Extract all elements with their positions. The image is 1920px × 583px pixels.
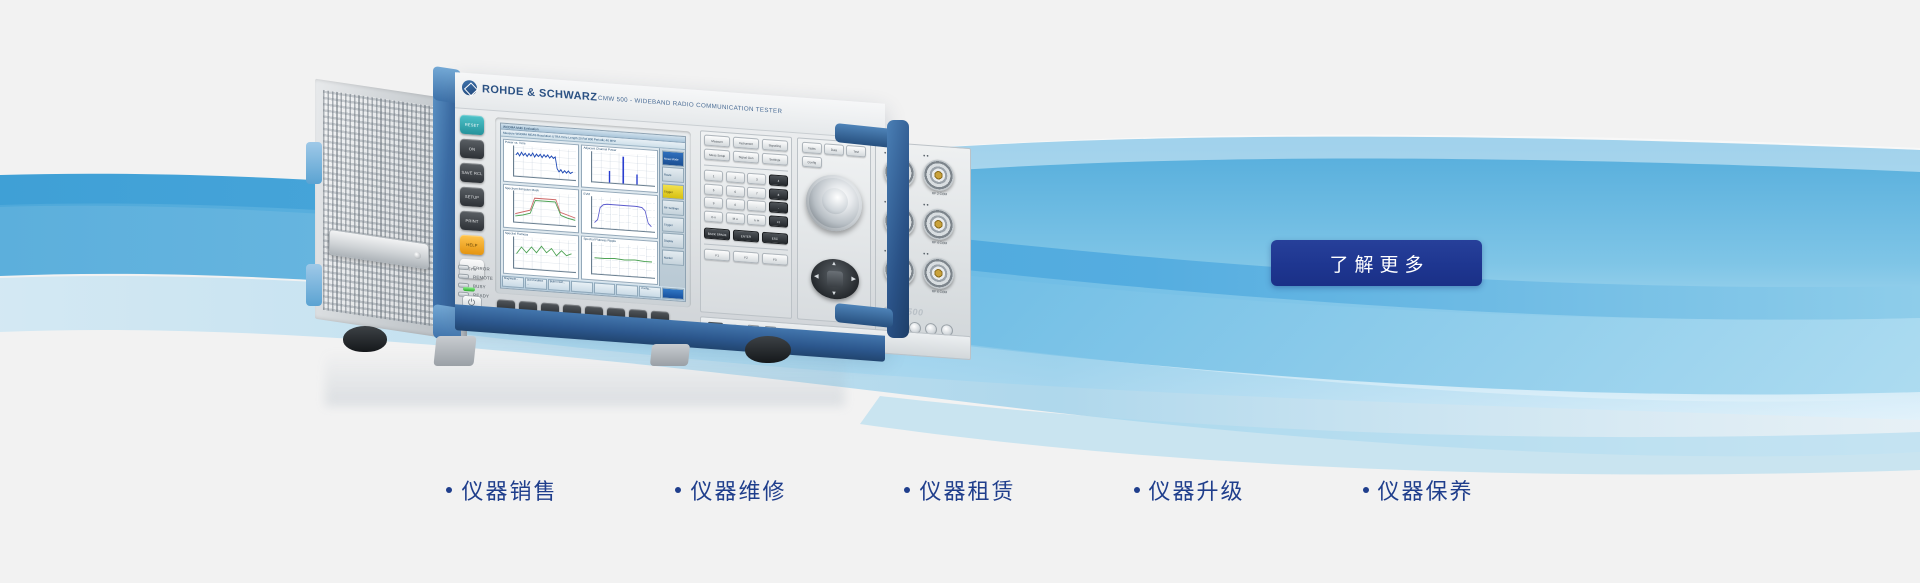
numeric-key[interactable]: 4 <box>769 174 788 186</box>
print-key[interactable]: PRINT <box>460 211 484 232</box>
service-label: 仪器租赁 <box>919 474 1015 506</box>
enter-key[interactable]: ENTER <box>733 229 759 242</box>
function-key[interactable]: Settings <box>762 152 788 165</box>
rf-connector[interactable]: ●● RF 6 COM <box>923 251 956 295</box>
service-label: 仪器维修 <box>690 474 786 506</box>
led-indicator-icon <box>458 264 469 270</box>
lcd-screen[interactable]: WCDMA Multi Evaluation Measure WCDMA MEA… <box>500 123 686 303</box>
keypad-function-rows: Measure Instrument Signaling Meas Setup … <box>701 131 791 168</box>
plot-panel: Power vs. Time <box>503 138 580 187</box>
plot-panel: EVM <box>581 190 658 239</box>
service-item-repair[interactable]: 仪器维修 <box>675 474 786 506</box>
led-label: REMOTE <box>473 275 493 281</box>
service-item-rental[interactable]: 仪器租赁 <box>904 474 1015 506</box>
plot-area-spectral-flatness <box>513 236 577 272</box>
bullet-icon <box>1134 487 1140 493</box>
numeric-key[interactable]: 1 <box>704 169 723 181</box>
reset-key[interactable]: RESET <box>460 115 484 136</box>
function-key[interactable]: Instrument <box>733 137 759 150</box>
numeric-key[interactable]: 8 <box>769 188 788 200</box>
screen-side-button[interactable]: Meas Mode <box>662 150 684 167</box>
f-key[interactable]: F3 <box>762 253 788 266</box>
unit-key[interactable]: M u <box>726 212 745 224</box>
plot-area-adjacent-channel-power <box>591 151 655 187</box>
rubber-foot-right <box>745 336 791 363</box>
screen-tab[interactable]: Config... <box>639 286 661 299</box>
hero-banner: ROHDE & SCHWARZ CMW 500 - WIDEBAND RADIO… <box>0 0 1920 583</box>
function-key[interactable]: Signaling <box>762 139 788 152</box>
screen-side-button[interactable]: Trigger <box>662 216 684 233</box>
function-key[interactable]: Meas Setup <box>704 148 730 161</box>
rf-jack-icon[interactable] <box>923 208 954 241</box>
handle-arm-top <box>835 123 893 148</box>
nav-key[interactable]: Config <box>802 155 822 167</box>
screen-tab[interactable] <box>594 282 616 295</box>
cmw500-instrument: ROHDE & SCHWARZ CMW 500 - WIDEBAND RADIO… <box>315 68 915 368</box>
bullet-icon <box>446 487 452 493</box>
screen-side-button[interactable]: RF Settings <box>662 199 684 216</box>
stand-foot-right <box>650 344 690 366</box>
function-key[interactable]: Signal Gen <box>733 150 759 163</box>
plot-area-spectral-flatness-ripple <box>591 242 655 278</box>
left-key-column: RESET ON SAVE RCL SETUP PRINT HELP SYS <box>460 115 488 285</box>
service-label: 仪器销售 <box>461 474 557 506</box>
screen-tab[interactable]: Magnitude... <box>502 276 524 289</box>
backspace-key[interactable]: BACK SPACE <box>704 227 730 240</box>
chassis-corner-cap-bottom <box>306 264 322 306</box>
model-name: CMW 500 - WIDEBAND RADIO COMMUNICATION T… <box>598 95 782 116</box>
unit-key[interactable]: k m <box>747 213 766 225</box>
numeric-key[interactable]: 9 <box>704 196 723 208</box>
service-label: 仪器保养 <box>1378 474 1474 506</box>
rf-jack-icon[interactable] <box>923 159 954 192</box>
setup-key[interactable]: SETUP <box>460 187 484 208</box>
numeric-key[interactable]: 0 <box>726 198 745 210</box>
keypad-block: Measure Instrument Signaling Meas Setup … <box>700 130 792 319</box>
plot-area-evm <box>591 196 655 232</box>
f-key[interactable]: F2 <box>733 251 759 264</box>
rf-jack-icon[interactable] <box>923 257 954 290</box>
plot-panel: Adjacent Channel Power <box>581 144 658 193</box>
bullet-icon <box>675 487 681 493</box>
service-item-upgrade[interactable]: 仪器升级 <box>1134 474 1245 506</box>
bullet-icon <box>1363 487 1369 493</box>
bullet-icon <box>904 487 910 493</box>
rf-connector-label: RF 6 COM <box>923 288 956 295</box>
display-bezel: WCDMA Multi Evaluation Measure WCDMA MEA… <box>495 117 691 307</box>
numeric-key[interactable]: 7 <box>747 186 766 198</box>
arrow-left-icon[interactable]: ◀ <box>814 274 819 280</box>
unit-key[interactable]: G n <box>704 210 723 222</box>
numeric-key[interactable]: 3 <box>747 173 766 185</box>
led-indicator-icon <box>458 273 469 279</box>
on-key[interactable]: ON <box>460 139 484 160</box>
service-label: 仪器升级 <box>1149 474 1245 506</box>
handle-arm-bottom <box>835 303 893 328</box>
rf-connector[interactable]: ●● RF 4 COM <box>923 202 956 246</box>
screen-tab[interactable]: Stat Condition ... <box>525 277 547 290</box>
brand-name: ROHDE & SCHWARZ <box>482 83 597 103</box>
screen-side-button[interactable]: Route <box>662 166 684 183</box>
plot-panel: Spectral Flatness Ripple <box>581 235 658 284</box>
numeric-key[interactable]: . <box>747 200 766 212</box>
plot-area-spectrum-emission-mask <box>513 191 577 227</box>
numeric-key[interactable]: - <box>769 201 788 213</box>
numeric-key[interactable]: 2 <box>726 171 745 183</box>
screen-side-button[interactable]: Trigger <box>662 183 684 200</box>
screen-tab[interactable]: Built-in Self... <box>548 279 570 292</box>
escape-key[interactable]: ESC <box>762 231 788 244</box>
learn-more-button[interactable]: 了解更多 <box>1271 240 1482 286</box>
numeric-key[interactable]: 5 <box>704 183 723 195</box>
rubber-foot-left <box>343 326 387 352</box>
rf-connector[interactable]: ●● RF 2 COM <box>923 153 956 197</box>
chassis-corner-cap-top <box>306 142 322 184</box>
screen-side-button[interactable]: Marker <box>662 249 684 266</box>
save-recall-key[interactable]: SAVE RCL <box>460 163 484 184</box>
screen-tab[interactable] <box>616 284 638 297</box>
stand-foot-left <box>433 336 476 366</box>
service-item-maintenance[interactable]: 仪器保养 <box>1363 474 1474 506</box>
led-label: ERROR <box>473 266 490 272</box>
service-list: 仪器销售 仪器维修 仪器租赁 仪器升级 仪器保养 <box>0 474 1920 506</box>
service-item-sales[interactable]: 仪器销售 <box>446 474 557 506</box>
f-key[interactable]: F1 <box>704 248 730 261</box>
screen-side-button[interactable]: Display <box>662 232 684 249</box>
numeric-keypad: 1 2 3 4 5 6 7 8 9 0 . - G n M u k m x1 <box>701 166 791 230</box>
unit-key[interactable]: x1 <box>769 215 788 227</box>
carry-handle[interactable] <box>835 120 911 338</box>
power-led-icon <box>463 287 475 292</box>
numeric-key[interactable]: 6 <box>726 185 745 197</box>
function-key[interactable]: Measure <box>704 134 730 147</box>
screen-tab[interactable] <box>571 281 593 294</box>
nav-key[interactable]: Tasks <box>802 142 822 154</box>
rohde-schwarz-logo-icon <box>462 80 477 96</box>
plot-area-power-vs-time <box>513 145 577 181</box>
screen-plot-grid: Power vs. Time Adjacent Channel Power <box>501 137 659 287</box>
handle-bar[interactable] <box>887 120 909 338</box>
help-key[interactable]: HELP <box>460 235 484 256</box>
screen-side-menu: Meas Mode Route Trigger RF Settings Trig… <box>659 148 685 288</box>
plot-panel: Spectrum Emission Mask <box>503 184 580 233</box>
plot-panel: Spectral Flatness <box>503 230 580 279</box>
screen-tab[interactable] <box>662 287 684 300</box>
